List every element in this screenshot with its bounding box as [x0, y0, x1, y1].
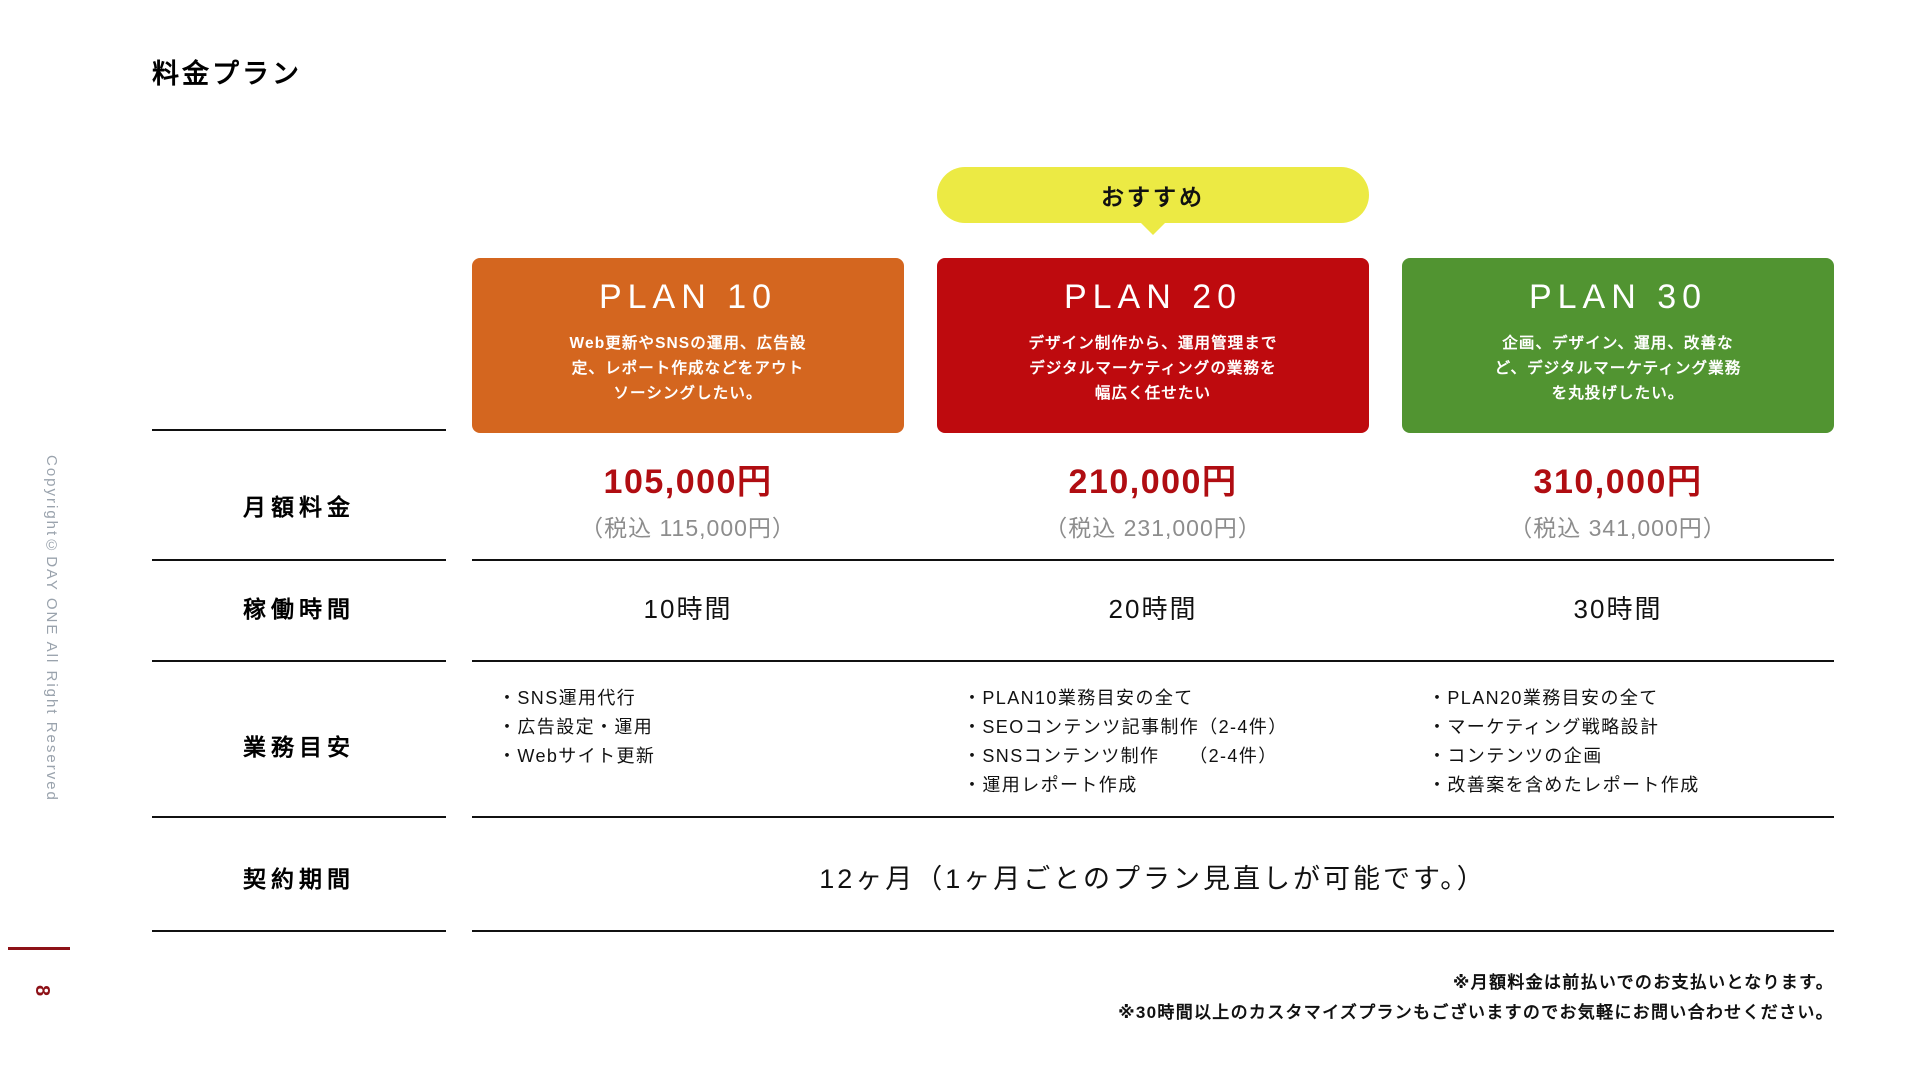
recommended-badge: おすすめ — [937, 167, 1369, 223]
list-item: ・マーケティング戦略設計 — [1428, 713, 1834, 742]
plan-header-card-plan10[interactable]: PLAN 10 Web更新やSNSの運用、広告設 定、レポート作成などをアウト … — [472, 258, 904, 433]
tasks-cell-plan20: ・PLAN10業務目安の全て ・SEOコンテンツ記事制作（2-4件） ・SNSコ… — [937, 684, 1369, 801]
footnotes: ※月額料金は前払いでのお支払いとなります。 ※30時間以上のカスタマイズプランも… — [1118, 968, 1834, 1028]
plan-name: PLAN 20 — [937, 275, 1369, 321]
page-number: 8 — [30, 985, 53, 996]
row-label-hours: 稼働時間 — [152, 590, 446, 624]
plan-description-line: デジタルマーケティングの業務を — [959, 356, 1347, 381]
list-item: ・コンテンツの企画 — [1428, 742, 1834, 771]
row-label-tasks: 業務目安 — [152, 728, 446, 762]
plan-description: Web更新やSNSの運用、広告設 定、レポート作成などをアウト ソーシングしたい… — [472, 331, 904, 406]
list-item: ・PLAN10業務目安の全て — [963, 684, 1369, 713]
page-number-divider — [8, 947, 70, 950]
price-with-tax: （税込 341,000円） — [1402, 509, 1834, 543]
plan-description: デザイン制作から、運用管理まで デジタルマーケティングの業務を 幅広く任せたい — [937, 331, 1369, 406]
price-with-tax: （税込 115,000円） — [472, 509, 904, 543]
task-list: ・PLAN20業務目安の全て ・マーケティング戦略設計 ・コンテンツの企画 ・改… — [1428, 684, 1834, 801]
hours-cell-plan30: 30時間 — [1402, 589, 1834, 626]
plan-description-line: 企画、デザイン、運用、改善な — [1424, 331, 1812, 356]
footnote-custom-plan: ※30時間以上のカスタマイズプランもございますのでお気軽にお問い合わせください。 — [1118, 998, 1834, 1028]
list-item: ・SEOコンテンツ記事制作（2-4件） — [963, 713, 1369, 742]
row-label-monthly-fee: 月額料金 — [152, 488, 446, 522]
page-title: 料金プラン — [152, 52, 302, 91]
list-item: ・改善案を含めたレポート作成 — [1428, 771, 1834, 800]
table-rule — [152, 816, 446, 818]
plan-description-line: Web更新やSNSの運用、広告設 — [494, 331, 882, 356]
price-cell-plan20: 210,000円 （税込 231,000円） — [937, 462, 1369, 543]
hours-cell-plan10: 10時間 — [472, 589, 904, 626]
plan-description-line: 幅広く任せたい — [959, 381, 1347, 406]
list-item: ・PLAN20業務目安の全て — [1428, 684, 1834, 713]
tasks-cell-plan10: ・SNS運用代行 ・広告設定・運用 ・Webサイト更新 — [472, 684, 904, 771]
table-rule — [152, 429, 446, 431]
task-list: ・SNS運用代行 ・広告設定・運用 ・Webサイト更新 — [498, 684, 904, 771]
plan-header-card-plan20[interactable]: PLAN 20 デザイン制作から、運用管理まで デジタルマーケティングの業務を … — [937, 258, 1369, 433]
footnote-prepayment: ※月額料金は前払いでのお支払いとなります。 — [1118, 968, 1834, 998]
table-rule — [152, 930, 446, 932]
table-rule — [152, 660, 446, 662]
list-item: ・Webサイト更新 — [498, 742, 904, 771]
plan-description-line: ど、デジタルマーケティング業務 — [1424, 356, 1812, 381]
table-rule — [472, 930, 1834, 932]
contract-value: 12ヶ月（1ヶ月ごとのプラン見直しが可能です。） — [472, 857, 1834, 896]
list-item: ・運用レポート作成 — [963, 771, 1369, 800]
list-item: ・SNS運用代行 — [498, 684, 904, 713]
plan-description-line: を丸投げしたい。 — [1424, 381, 1812, 406]
list-item: ・SNSコンテンツ制作 （2-4件） — [963, 742, 1369, 771]
table-rule — [152, 559, 446, 561]
price-amount: 105,000円 — [472, 462, 904, 503]
plan-description: 企画、デザイン、運用、改善な ど、デジタルマーケティング業務 を丸投げしたい。 — [1402, 331, 1834, 406]
recommended-badge-pointer-icon — [1137, 219, 1169, 235]
price-amount: 210,000円 — [937, 462, 1369, 503]
row-label-contract: 契約期間 — [152, 860, 446, 894]
price-cell-plan30: 310,000円 （税込 341,000円） — [1402, 462, 1834, 543]
price-with-tax: （税込 231,000円） — [937, 509, 1369, 543]
task-list: ・PLAN10業務目安の全て ・SEOコンテンツ記事制作（2-4件） ・SNSコ… — [963, 684, 1369, 801]
copyright-text: Copyright©DAY ONE All Right Reserved — [34, 455, 60, 802]
plan-description-line: デザイン制作から、運用管理まで — [959, 331, 1347, 356]
plan-description-line: ソーシングしたい。 — [494, 381, 882, 406]
hours-cell-plan20: 20時間 — [937, 589, 1369, 626]
plan-name: PLAN 30 — [1402, 275, 1834, 321]
table-rule — [472, 559, 1834, 561]
list-item: ・広告設定・運用 — [498, 713, 904, 742]
price-amount: 310,000円 — [1402, 462, 1834, 503]
price-cell-plan10: 105,000円 （税込 115,000円） — [472, 462, 904, 543]
tasks-cell-plan30: ・PLAN20業務目安の全て ・マーケティング戦略設計 ・コンテンツの企画 ・改… — [1402, 684, 1834, 801]
table-rule — [472, 816, 1834, 818]
table-rule — [472, 660, 1834, 662]
plan-description-line: 定、レポート作成などをアウト — [494, 356, 882, 381]
plan-header-card-plan30[interactable]: PLAN 30 企画、デザイン、運用、改善な ど、デジタルマーケティング業務 を… — [1402, 258, 1834, 433]
plan-name: PLAN 10 — [472, 275, 904, 321]
